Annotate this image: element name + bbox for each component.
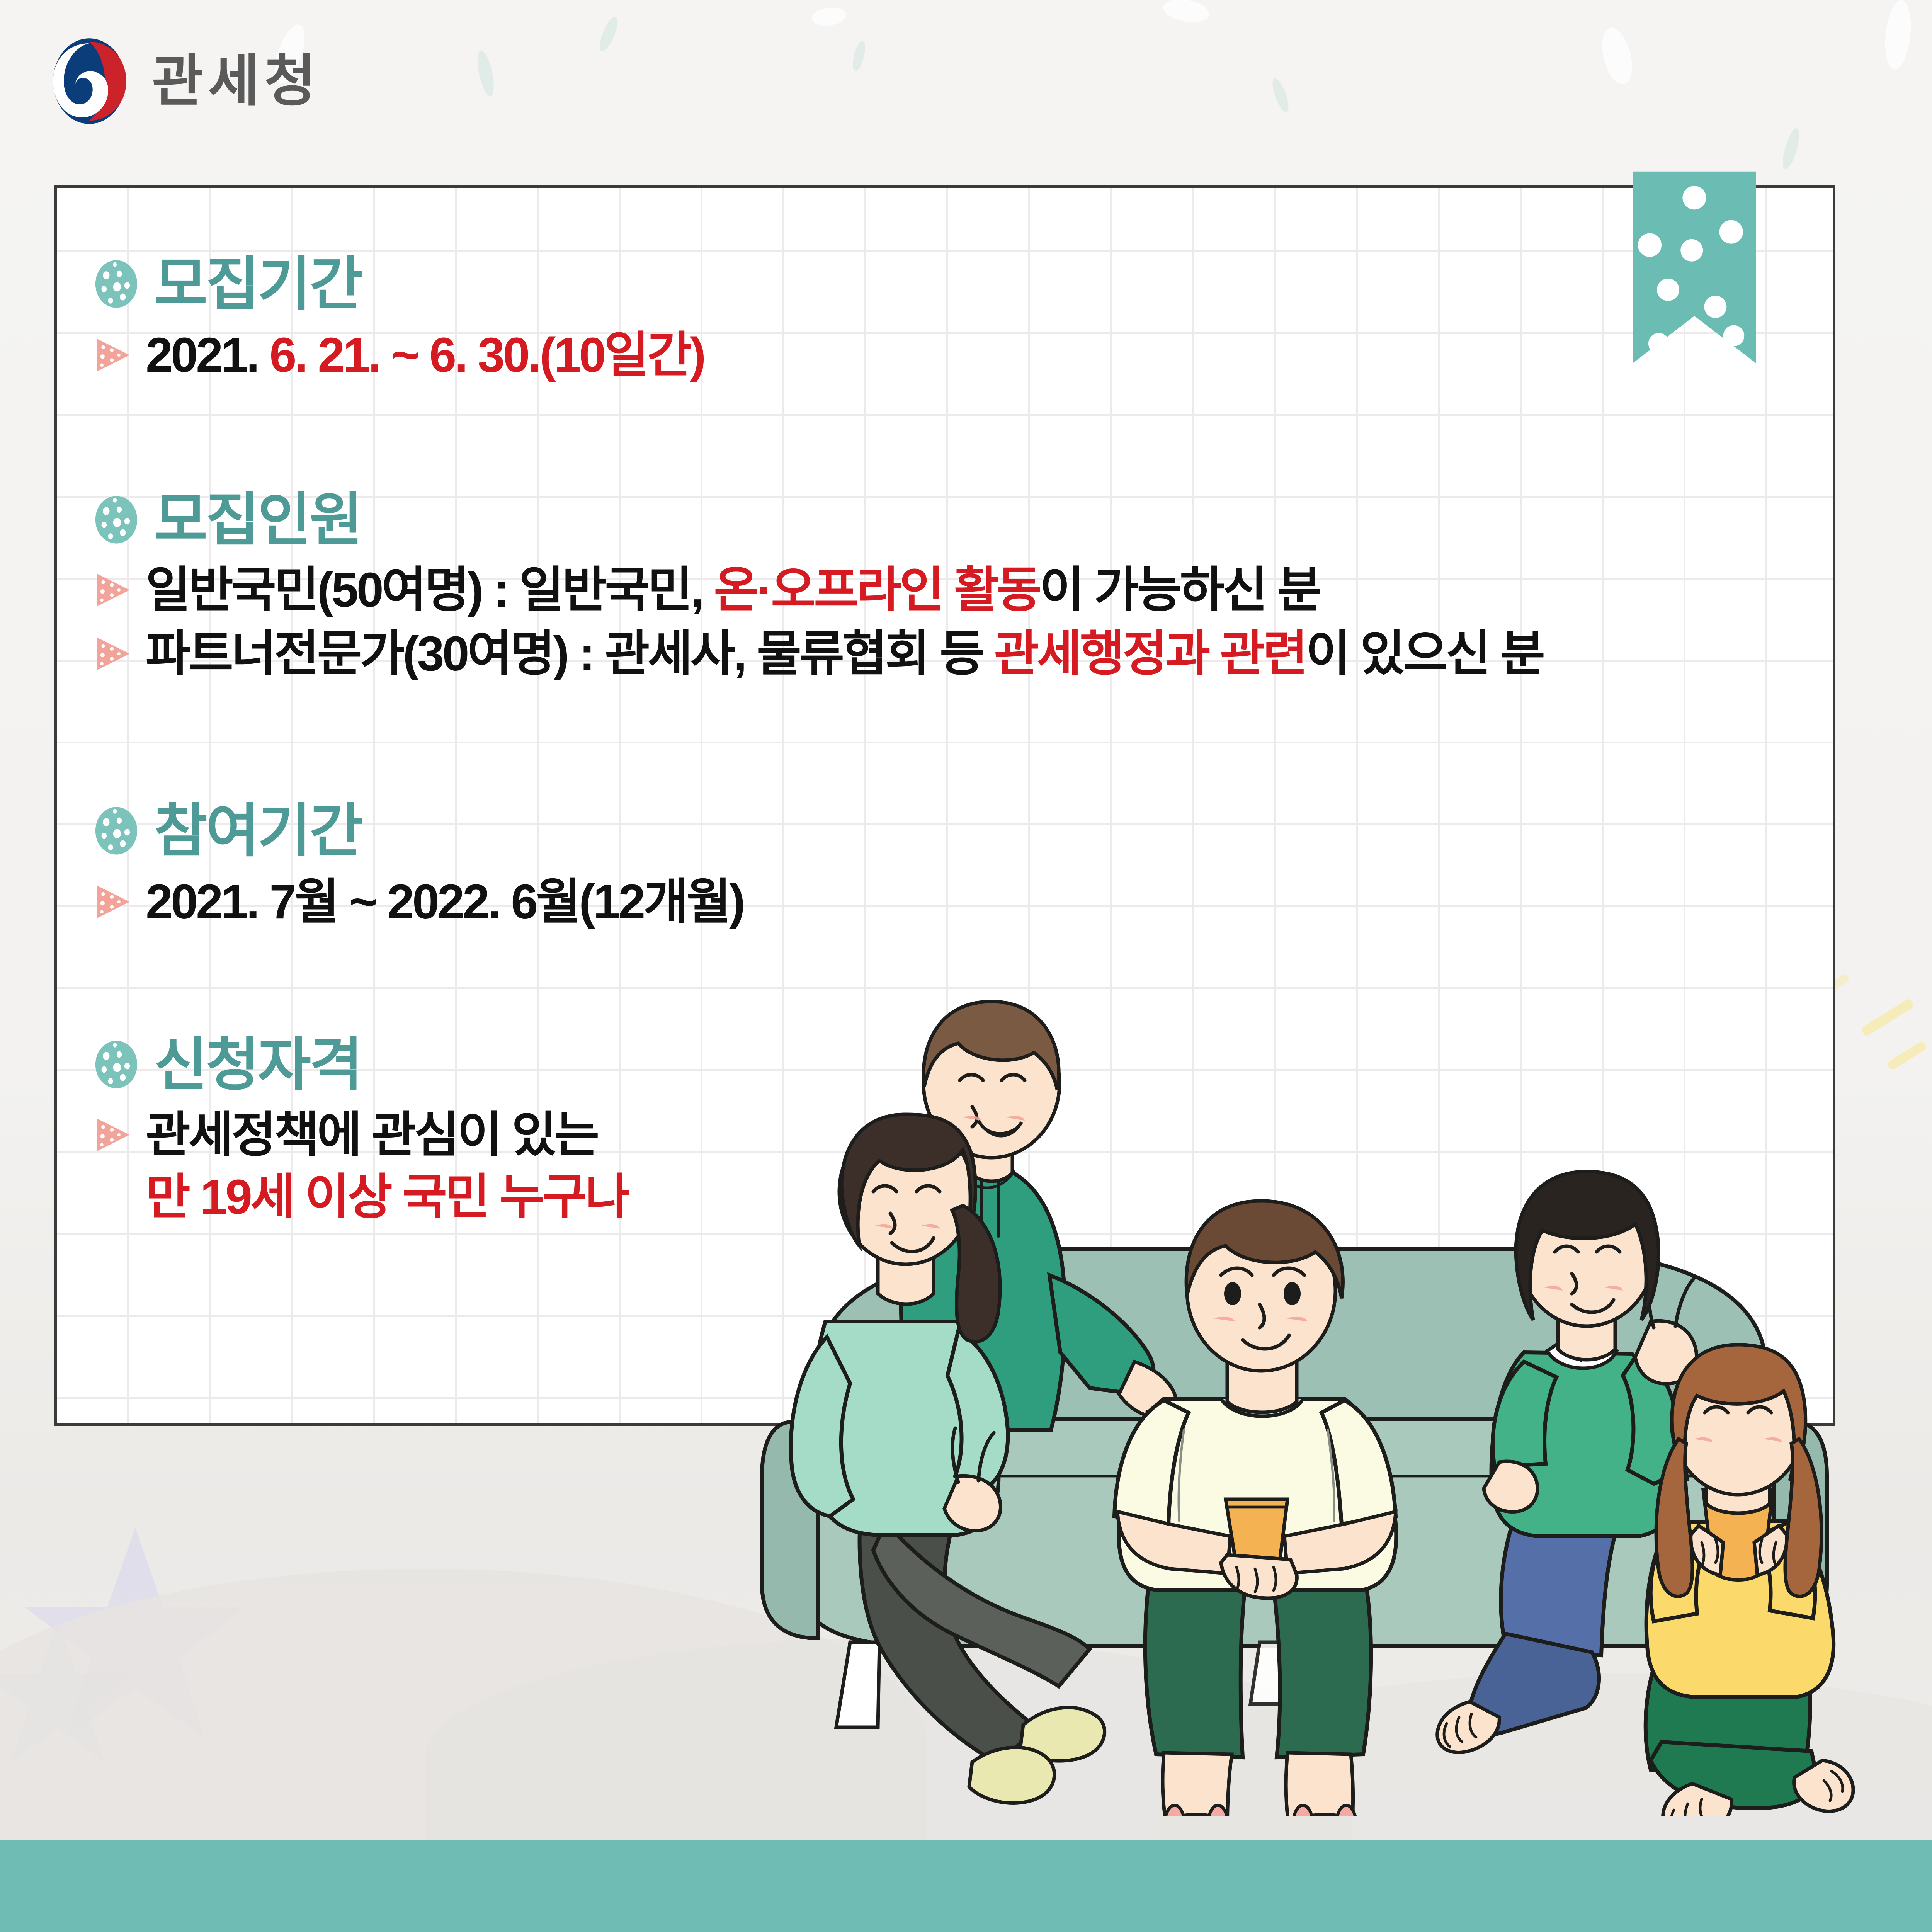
polka-dot-circle-bullet-icon	[95, 806, 138, 855]
polka-dot-triangle-bullet-icon	[95, 636, 132, 672]
polka-dot-circle-bullet-icon	[95, 495, 138, 544]
section-item-row: 일반국민(50여명) : 일반국민, 온·오프라인 활동이 가능하신 분	[95, 563, 1543, 617]
section-heading-row: 참여기간	[95, 802, 743, 860]
section-item-row: 2021. 6. 21. ~ 6. 30.(10일간)	[95, 328, 704, 382]
section-item-text: 만 19세 이상 국민 누구나	[146, 1170, 628, 1224]
section-heading-label: 모집기간	[154, 255, 361, 313]
polka-dot-triangle-bullet-icon	[95, 884, 132, 920]
section-heading-label: 신청자격	[154, 1036, 361, 1094]
section-item-row: 만 19세 이상 국민 누구나	[95, 1170, 628, 1224]
polka-dot-triangle-bullet-icon	[95, 1117, 132, 1153]
section-item-text: 2021. 7월 ~ 2022. 6월(12개월)	[146, 874, 743, 929]
section-item-row: 파트너전문가(30여명) : 관세사, 물류협회 등 관세행정과 관련이 있으신…	[95, 626, 1543, 681]
section-item-text: 관세정책에 관심이 있는	[146, 1107, 597, 1162]
section-item-row: 관세정책에 관심이 있는	[95, 1107, 628, 1162]
section-item-text: 파트너전문가(30여명) : 관세사, 물류협회 등 관세행정과 관련이 있으신…	[146, 626, 1543, 681]
polka-dot-triangle-bullet-icon	[95, 337, 132, 373]
polka-dot-bookmark-ribbon-icon	[1629, 167, 1760, 368]
section-item-text: 2021. 6. 21. ~ 6. 30.(10일간)	[146, 328, 704, 382]
section-recruitment-period: 모집기간 2021. 6. 21. ~ 6. 30.(10일간)	[95, 255, 704, 382]
person-bottom-right-drinking	[1646, 1345, 1853, 1816]
polka-dot-circle-bullet-icon	[95, 1040, 138, 1089]
section-item-text: 일반국민(50여명) : 일반국민, 온·오프라인 활동이 가능하신 분	[146, 563, 1320, 617]
polka-dot-circle-bullet-icon	[95, 259, 138, 309]
section-heading-label: 참여기간	[154, 802, 361, 860]
polka-dot-triangle-bullet-icon	[95, 572, 132, 608]
section-item-row: 2021. 7월 ~ 2022. 6월(12개월)	[95, 874, 743, 929]
section-heading-row: 신청자격	[95, 1036, 628, 1094]
section-heading-label: 모집인원	[154, 491, 361, 549]
section-eligibility: 신청자격 관세정책에 관심이 있는 만 19세 이상 국민 누구나	[95, 1036, 628, 1224]
section-participation-period: 참여기간 2021. 7월 ~ 2022. 6월(12개월)	[95, 802, 743, 929]
section-heading-row: 모집인원	[95, 491, 1543, 549]
five-people-relaxing-on-sofa-illustration: .ln{fill:none;stroke:#1d1d1b;stroke-widt…	[726, 889, 1886, 1816]
section-heading-row: 모집기간	[95, 255, 704, 313]
section-recruitment-quota: 모집인원 일반국민(50여명) : 일반국민, 온·오프라인 활동이 가능하신 …	[95, 491, 1543, 681]
